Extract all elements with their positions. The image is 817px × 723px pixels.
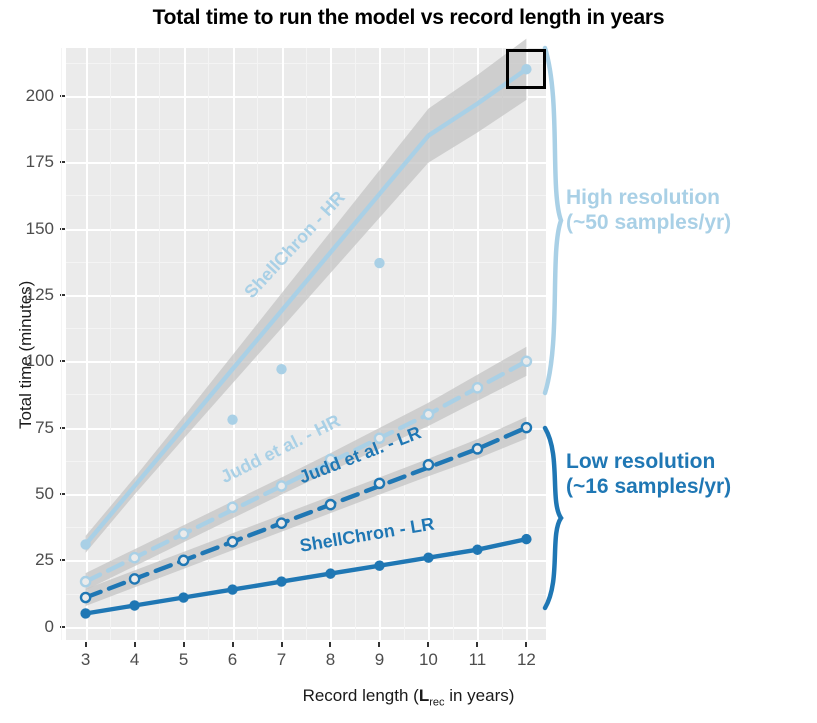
data-point-2-2 <box>179 556 188 565</box>
x-tick-label: 11 <box>457 650 497 670</box>
data-point-0-0 <box>80 539 90 549</box>
chart-title: Total time to run the model vs record le… <box>0 6 817 30</box>
annotation-low-resolution-line2: (~16 samples/yr) <box>566 475 731 500</box>
data-point-2-9 <box>522 423 531 432</box>
data-point-3-3 <box>227 584 237 594</box>
data-point-0-6 <box>374 258 384 268</box>
x-tick-mark <box>85 642 87 647</box>
x-tick-label: 12 <box>506 650 546 670</box>
annotation-high-resolution-line1: High resolution <box>566 186 731 211</box>
data-point-1-0 <box>81 577 90 586</box>
x-tick-mark <box>183 642 185 647</box>
x-tick-label: 3 <box>66 650 106 670</box>
x-tick-mark <box>281 642 283 647</box>
brace-low-resolution <box>545 428 561 608</box>
data-point-2-5 <box>326 500 335 509</box>
annotation-high-resolution-line2: (~50 samples/yr) <box>566 211 731 236</box>
data-point-2-1 <box>130 574 139 583</box>
highlighted-point-box <box>506 49 546 89</box>
chart-root: Total time to run the model vs record le… <box>0 0 817 723</box>
data-point-2-8 <box>473 444 482 453</box>
annotation-low-resolution-line1: Low resolution <box>566 450 731 475</box>
x-tick-mark <box>427 642 429 647</box>
x-tick-label: 8 <box>310 650 350 670</box>
data-point-1-1 <box>130 553 139 562</box>
data-point-3-7 <box>423 553 433 563</box>
data-point-2-6 <box>375 479 384 488</box>
data-point-0-4 <box>276 364 286 374</box>
data-point-3-2 <box>178 592 188 602</box>
x-tick-mark <box>525 642 527 647</box>
y-tick-label: 100 <box>0 351 54 371</box>
data-point-3-1 <box>129 600 139 610</box>
x-tick-label: 7 <box>262 650 302 670</box>
x-axis-label: Record length (Lrec in years) <box>0 686 817 708</box>
data-point-1-9 <box>522 357 531 366</box>
data-point-2-3 <box>228 537 237 546</box>
data-point-3-0 <box>80 608 90 618</box>
x-tick-label: 6 <box>213 650 253 670</box>
data-point-2-0 <box>81 593 90 602</box>
data-point-3-8 <box>472 545 482 555</box>
y-tick-label: 175 <box>0 152 54 172</box>
annotation-high-resolution: High resolution (~50 samples/yr) <box>566 186 731 236</box>
data-point-1-8 <box>473 383 482 392</box>
data-point-3-9 <box>521 534 531 544</box>
y-tick-label: 0 <box>0 617 54 637</box>
data-point-3-4 <box>276 576 286 586</box>
x-tick-mark <box>329 642 331 647</box>
x-tick-label: 10 <box>408 650 448 670</box>
y-tick-label: 125 <box>0 285 54 305</box>
data-point-1-2 <box>179 529 188 538</box>
data-point-1-4 <box>277 481 286 490</box>
data-point-0-3 <box>227 414 237 424</box>
brace-high-resolution <box>545 48 561 393</box>
gridline-vertical-minor <box>61 48 62 640</box>
y-tick-label: 200 <box>0 86 54 106</box>
y-tick-label: 25 <box>0 550 54 570</box>
y-tick-label: 150 <box>0 219 54 239</box>
data-point-2-7 <box>424 460 433 469</box>
data-point-1-3 <box>228 503 237 512</box>
x-tick-mark <box>476 642 478 647</box>
y-tick-label: 50 <box>0 484 54 504</box>
x-tick-mark <box>378 642 380 647</box>
x-tick-label: 4 <box>115 650 155 670</box>
data-point-3-5 <box>325 568 335 578</box>
y-tick-label: 75 <box>0 418 54 438</box>
data-point-3-6 <box>374 560 384 570</box>
annotation-low-resolution: Low resolution (~16 samples/yr) <box>566 450 731 500</box>
x-tick-mark <box>232 642 234 647</box>
x-tick-label: 5 <box>164 650 204 670</box>
data-point-1-7 <box>424 410 433 419</box>
x-tick-label: 9 <box>359 650 399 670</box>
data-point-2-4 <box>277 519 286 528</box>
x-tick-mark <box>134 642 136 647</box>
